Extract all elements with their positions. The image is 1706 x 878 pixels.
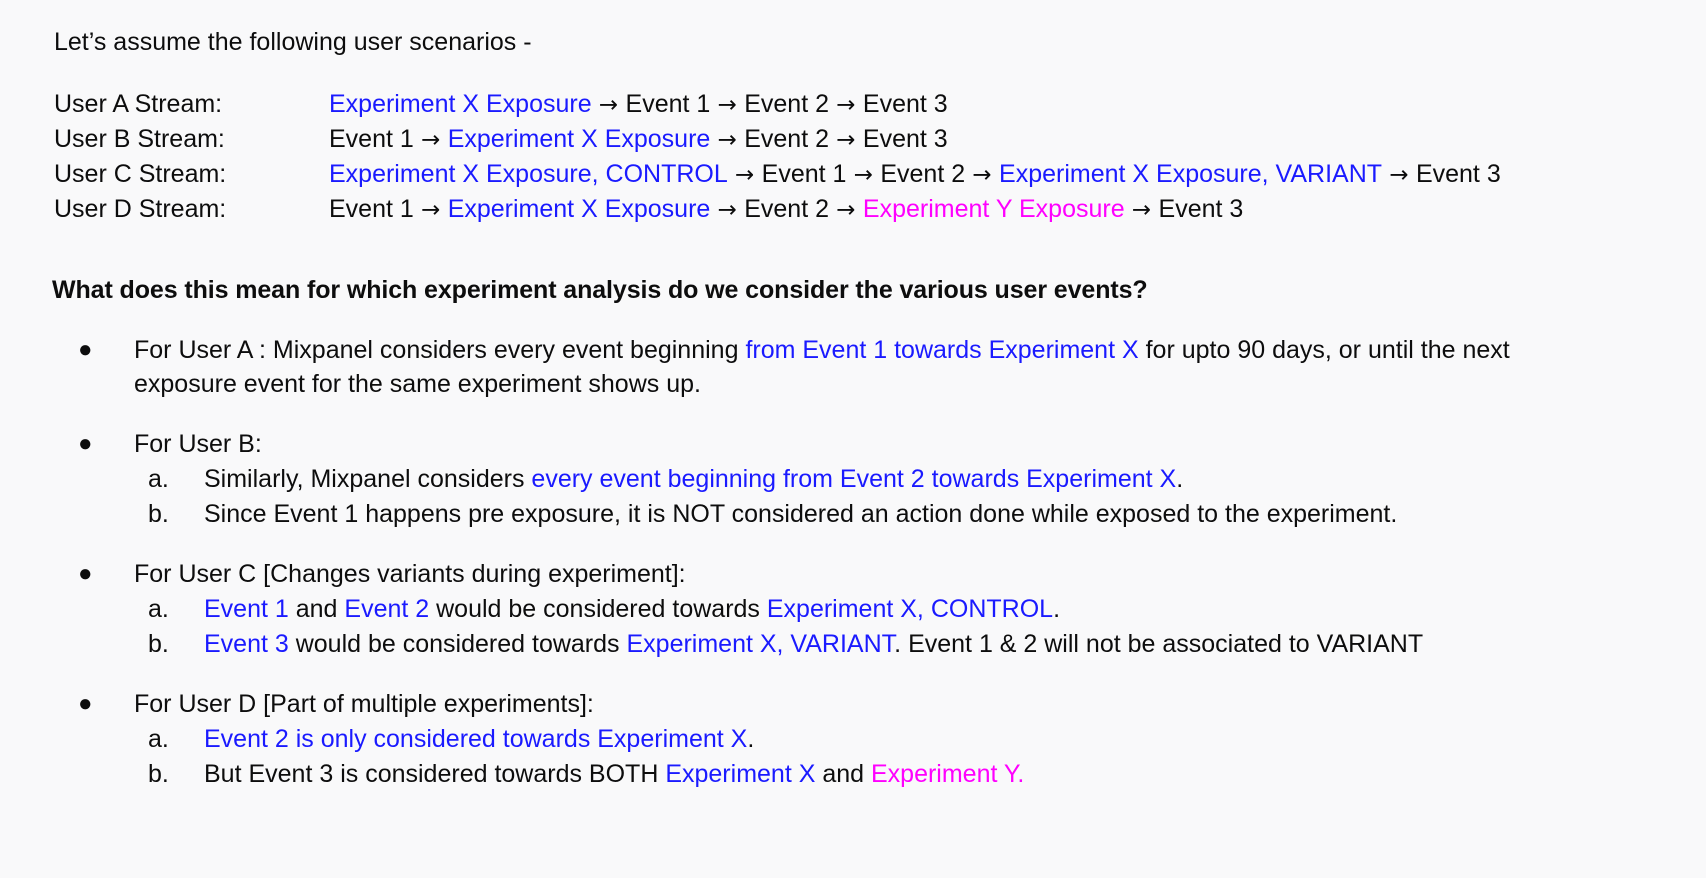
bullet-2-sub-1-segment-2: Experiment X, VARIANT [626,630,894,658]
bullet-marker-icon: ● [78,333,134,401]
stream-row: User D Stream:Event 1 → Experiment X Exp… [54,192,1501,227]
stream-0-segment-6: Event 3 [863,90,948,118]
stream-2-segment-5: → [965,162,999,188]
stream-sequence: Experiment X Exposure, CONTROL → Event 1… [329,157,1501,192]
stream-sequence: Experiment X Exposure → Event 1 → Event … [329,87,1501,122]
stream-1-segment-1: → [414,127,448,153]
stream-label: User D Stream: [54,192,329,227]
stream-3-segment-0: Event 1 [329,195,414,223]
document-page: Let’s assume the following user scenario… [0,0,1706,878]
stream-0-segment-5: → [829,92,863,118]
bullet-2-sub-0-segment-5: . [1053,595,1060,623]
stream-0-segment-4: Event 2 [744,90,829,118]
sub-list-item: b.Since Event 1 happens pre exposure, it… [0,497,1706,531]
sub-list-marker: b. [148,757,204,791]
stream-3-segment-3: → [710,197,744,223]
bullet-item: ●For User A : Mixpanel considers every e… [0,333,1706,401]
bullet-2-segment-0: For User C [Changes variants during expe… [134,560,686,588]
bullet-block: ●For User A : Mixpanel considers every e… [0,333,1706,401]
stream-1-segment-5: → [829,127,863,153]
bullet-0-segment-1: from Event 1 towards Experiment X [745,336,1138,364]
stream-3-segment-4: Event 2 [744,195,829,223]
stream-0-segment-2: Event 1 [626,90,711,118]
bullet-2-sub-1-segment-3: . Event 1 & 2 will not be associated to … [894,630,1423,658]
sub-list-marker: b. [148,627,204,661]
bullet-marker-icon: ● [78,687,134,721]
sub-list-marker: a. [148,462,204,496]
bullet-item: ●For User C [Changes variants during exp… [0,557,1706,591]
stream-label: User C Stream: [54,157,329,192]
stream-2-segment-6: Experiment X Exposure, VARIANT [999,160,1382,188]
bullet-3-sub-1-segment-0: But Event 3 is considered towards BOTH [204,760,665,788]
bullet-list: ●For User A : Mixpanel considers every e… [0,333,1706,817]
bullet-block: ●For User D [Part of multiple experiment… [0,687,1706,791]
stream-3-segment-5: → [829,197,863,223]
bullet-block: ●For User B:a.Similarly, Mixpanel consid… [0,427,1706,531]
sub-list-text: Since Event 1 happens pre exposure, it i… [204,497,1706,531]
sub-list-marker: a. [148,592,204,626]
sub-list-item: b.Event 3 would be considered towards Ex… [0,627,1706,661]
stream-1-segment-2: Experiment X Exposure [448,125,711,153]
bullet-3-segment-0: For User D [Part of multiple experiments… [134,690,594,718]
bullet-1-sub-1-segment-0: Since Event 1 happens pre exposure, it i… [204,500,1397,528]
stream-sequence: Event 1 → Experiment X Exposure → Event … [329,192,1501,227]
bullet-3-sub-1-segment-2: and [815,760,871,788]
bullet-text: For User B: [134,427,1524,461]
stream-1-segment-4: Event 2 [744,125,829,153]
stream-3-segment-2: Experiment X Exposure [448,195,711,223]
bullet-2-sub-0-segment-0: Event 1 [204,595,289,623]
stream-2-segment-0: Experiment X Exposure, CONTROL [329,160,728,188]
sub-list-item: a.Event 2 is only considered towards Exp… [0,722,1706,756]
bullet-item: ●For User B: [0,427,1706,461]
bullet-text: For User D [Part of multiple experiments… [134,687,1524,721]
sub-list-text: Similarly, Mixpanel considers every even… [204,462,1706,496]
stream-1-segment-6: Event 3 [863,125,948,153]
stream-3-segment-1: → [414,197,448,223]
bullet-1-segment-0: For User B: [134,430,262,458]
stream-label: User A Stream: [54,87,329,122]
sub-list-marker: a. [148,722,204,756]
stream-label: User B Stream: [54,122,329,157]
stream-row: User A Stream:Experiment X Exposure → Ev… [54,87,1501,122]
stream-2-segment-4: Event 2 [880,160,965,188]
bullet-2-sub-0-segment-4: Experiment X, CONTROL [767,595,1053,623]
user-streams-list: User A Stream:Experiment X Exposure → Ev… [54,87,1501,227]
bullet-1-sub-0-segment-2: . [1176,465,1183,493]
stream-1-segment-0: Event 1 [329,125,414,153]
stream-1-segment-3: → [710,127,744,153]
bullet-item: ●For User D [Part of multiple experiment… [0,687,1706,721]
sub-list-text: But Event 3 is considered towards BOTH E… [204,757,1706,791]
sub-list-text: Event 2 is only considered towards Exper… [204,722,1706,756]
bullet-2-sub-1-segment-1: would be considered towards [289,630,627,658]
bullet-0-segment-0: For User A : Mixpanel considers every ev… [134,336,745,364]
stream-2-segment-3: → [846,162,880,188]
sub-list-text: Event 3 would be considered towards Expe… [204,627,1706,661]
stream-0-segment-3: → [710,92,744,118]
stream-row: User B Stream:Event 1 → Experiment X Exp… [54,122,1501,157]
stream-3-segment-8: Event 3 [1159,195,1244,223]
bullet-text: For User C [Changes variants during expe… [134,557,1524,591]
intro-line: Let’s assume the following user scenario… [54,25,532,59]
bullet-3-sub-1-segment-3: Experiment Y. [871,760,1024,788]
sub-list-text: Event 1 and Event 2 would be considered … [204,592,1706,626]
stream-3-segment-6: Experiment Y Exposure [863,195,1125,223]
bullet-3-sub-0-segment-1: . [747,725,754,753]
sub-list-item: a.Event 1 and Event 2 would be considere… [0,592,1706,626]
bullet-marker-icon: ● [78,557,134,591]
bullet-2-sub-0-segment-1: and [289,595,345,623]
bullet-3-sub-1-segment-1: Experiment X [665,760,815,788]
bullet-block: ●For User C [Changes variants during exp… [0,557,1706,661]
bullet-2-sub-0-segment-3: would be considered towards [429,595,767,623]
sub-list-item: b.But Event 3 is considered towards BOTH… [0,757,1706,791]
bullet-text: For User A : Mixpanel considers every ev… [134,333,1524,401]
bullet-2-sub-0-segment-2: Event 2 [344,595,429,623]
stream-3-segment-7: → [1125,197,1159,223]
stream-0-segment-0: Experiment X Exposure [329,90,592,118]
bullet-1-sub-0-segment-1: every event beginning from Event 2 towar… [531,465,1176,493]
sub-list-marker: b. [148,497,204,531]
stream-2-segment-8: Event 3 [1416,160,1501,188]
section-question-heading: What does this mean for which experiment… [52,273,1148,307]
stream-row: User C Stream:Experiment X Exposure, CON… [54,157,1501,192]
bullet-marker-icon: ● [78,427,134,461]
stream-sequence: Event 1 → Experiment X Exposure → Event … [329,122,1501,157]
stream-2-segment-7: → [1382,162,1416,188]
stream-2-segment-1: → [728,162,762,188]
stream-2-segment-2: Event 1 [762,160,847,188]
sub-list-item: a.Similarly, Mixpanel considers every ev… [0,462,1706,496]
bullet-3-sub-0-segment-0: Event 2 is only considered towards Exper… [204,725,747,753]
bullet-2-sub-1-segment-0: Event 3 [204,630,289,658]
stream-0-segment-1: → [592,92,626,118]
bullet-1-sub-0-segment-0: Similarly, Mixpanel considers [204,465,531,493]
